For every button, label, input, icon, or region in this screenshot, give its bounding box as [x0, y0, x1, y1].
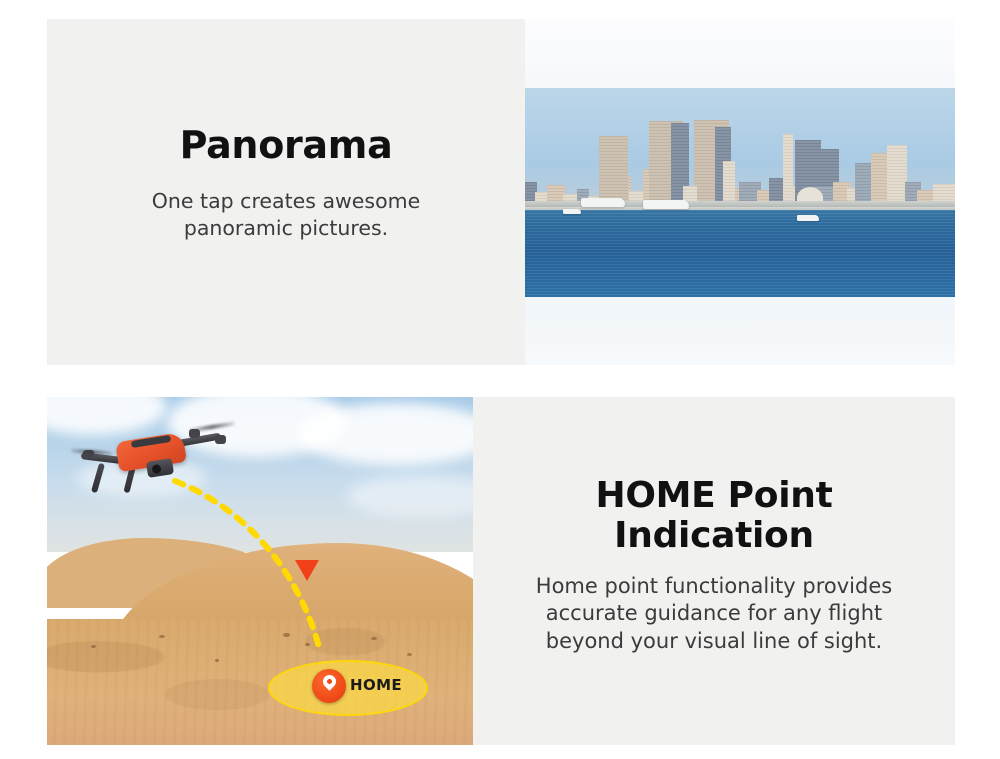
boat-small — [563, 209, 581, 214]
home-point-headline-line2: Indication — [614, 515, 814, 556]
home-marker-label: HOME — [350, 676, 402, 694]
home-point-subcopy: Home point functionality provides accura… — [529, 573, 899, 656]
home-marker-pin-icon — [312, 669, 346, 703]
product-feature-page: Panorama One tap creates awesome panoram… — [0, 0, 1000, 759]
building-tall — [887, 145, 907, 207]
home-point-section: HOME HOME Point Indication Home point fu… — [47, 397, 955, 745]
city-skyline-panorama-photo — [525, 88, 955, 297]
building-tall — [599, 136, 628, 206]
home-point-headline-line1: HOME Point — [596, 475, 833, 516]
panorama-text-block: Panorama One tap creates awesome panoram… — [47, 19, 525, 365]
panorama-section: Panorama One tap creates awesome panoram… — [47, 19, 955, 365]
drone-desert-home-point-photo: HOME — [47, 397, 473, 745]
boat — [643, 200, 689, 209]
building-tall — [783, 134, 793, 202]
home-point-headline: HOME Point Indication — [596, 476, 833, 557]
boat — [581, 198, 625, 207]
direction-arrow-icon — [295, 560, 319, 581]
pin-teardrop-glyph — [320, 672, 338, 690]
panorama-headline: Panorama — [180, 124, 393, 167]
panorama-image-frame — [525, 19, 955, 365]
home-point-text-block: HOME Point Indication Home point functio… — [473, 397, 955, 745]
panorama-subcopy: One tap creates awesome panoramic pictur… — [106, 188, 466, 242]
ferry-boat — [797, 215, 819, 221]
harbor-water — [525, 210, 955, 297]
home-landing-zone — [268, 660, 428, 716]
